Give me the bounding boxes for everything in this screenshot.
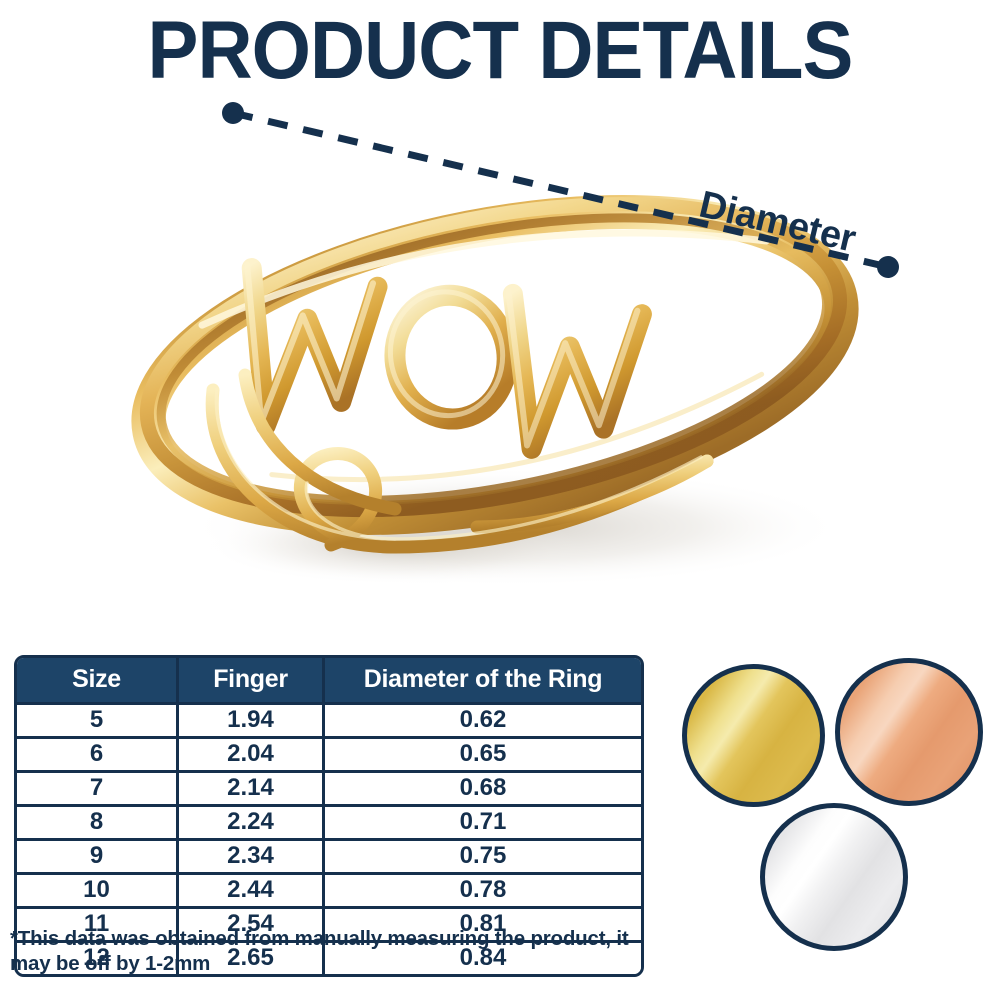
page-title: PRODUCT DETAILS: [35, 8, 965, 94]
cell-finger: 1.94: [179, 702, 325, 736]
color-swatch-gold[interactable]: [682, 664, 825, 807]
cell-size: 7: [17, 770, 179, 804]
column-header-size: Size: [17, 658, 179, 702]
cell-diameter: 0.62: [325, 702, 641, 736]
cell-diameter: 0.71: [325, 804, 641, 838]
table-header-row: Size Finger Diameter of the Ring: [17, 658, 641, 702]
cell-diameter: 0.78: [325, 872, 641, 906]
table-row: 9 2.34 0.75: [17, 838, 641, 872]
color-options: [660, 650, 1000, 960]
cell-size: 8: [17, 804, 179, 838]
table-row: 7 2.14 0.68: [17, 770, 641, 804]
color-swatch-rose-gold[interactable]: [835, 658, 983, 806]
diameter-dot-start: [222, 102, 244, 124]
cell-size: 6: [17, 736, 179, 770]
cell-finger: 2.34: [179, 838, 325, 872]
color-swatch-silver[interactable]: [760, 803, 908, 951]
table-row: 8 2.24 0.71: [17, 804, 641, 838]
column-header-diameter: Diameter of the Ring: [325, 658, 641, 702]
product-details-page: PRODUCT DETAILS: [0, 0, 1000, 1000]
table-row: 6 2.04 0.65: [17, 736, 641, 770]
cell-finger: 2.04: [179, 736, 325, 770]
cell-finger: 2.14: [179, 770, 325, 804]
table-footnote: *This data was obtained from manually me…: [10, 926, 650, 976]
cell-diameter: 0.68: [325, 770, 641, 804]
table-row: 5 1.94 0.62: [17, 702, 641, 736]
cell-size: 10: [17, 872, 179, 906]
cell-finger: 2.44: [179, 872, 325, 906]
cell-finger: 2.24: [179, 804, 325, 838]
table-row: 10 2.44 0.78: [17, 872, 641, 906]
cell-diameter: 0.75: [325, 838, 641, 872]
cell-diameter: 0.65: [325, 736, 641, 770]
column-header-finger: Finger: [179, 658, 325, 702]
cell-size: 5: [17, 702, 179, 736]
cell-size: 9: [17, 838, 179, 872]
